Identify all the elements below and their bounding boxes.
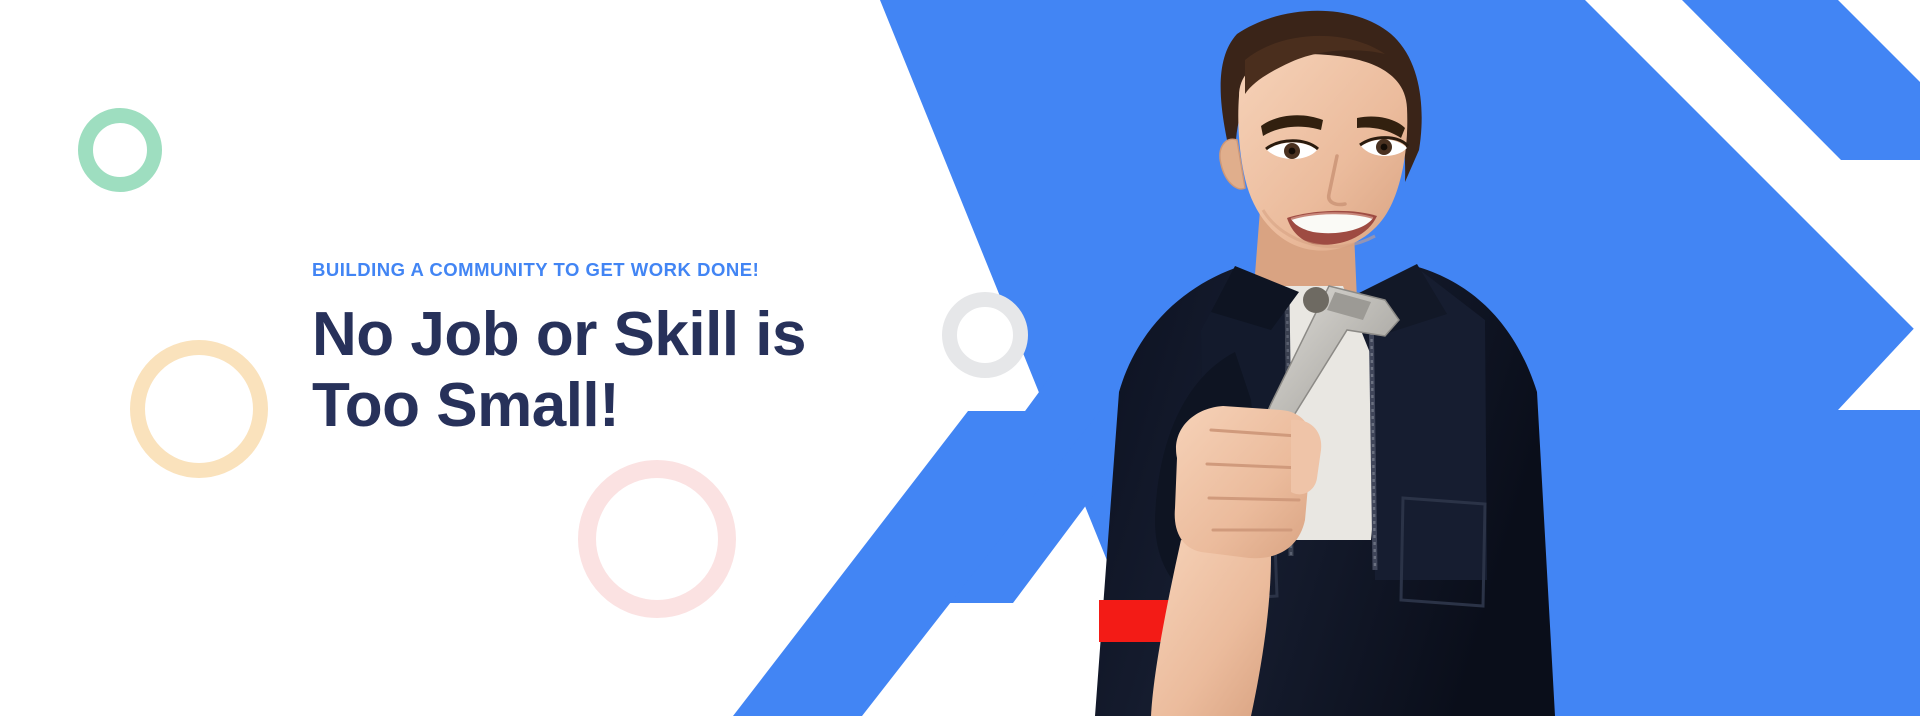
- hero-banner: BUILDING A COMMUNITY TO GET WORK DONE! N…: [0, 0, 1920, 716]
- hero-eyebrow: BUILDING A COMMUNITY TO GET WORK DONE!: [312, 258, 932, 282]
- hero-headline-line-1: No Job or Skill is: [312, 300, 932, 371]
- hero-headline-line-2: Too Small!: [312, 371, 932, 442]
- hero-copy: BUILDING A COMMUNITY TO GET WORK DONE! N…: [312, 258, 932, 441]
- hero-headline: No Job or Skill is Too Small!: [312, 300, 932, 441]
- worker-photo: [1085, 0, 1745, 716]
- hand-gripping-wrench: [1175, 406, 1322, 558]
- decorative-ring-grey: [942, 292, 1028, 378]
- decorative-ring-cream: [130, 340, 268, 478]
- blue-stripe-lower: [733, 411, 1100, 716]
- decorative-ring-green: [78, 108, 162, 192]
- decorative-ring-pink: [578, 460, 736, 618]
- white-notch-bottom-right: [1838, 322, 1920, 410]
